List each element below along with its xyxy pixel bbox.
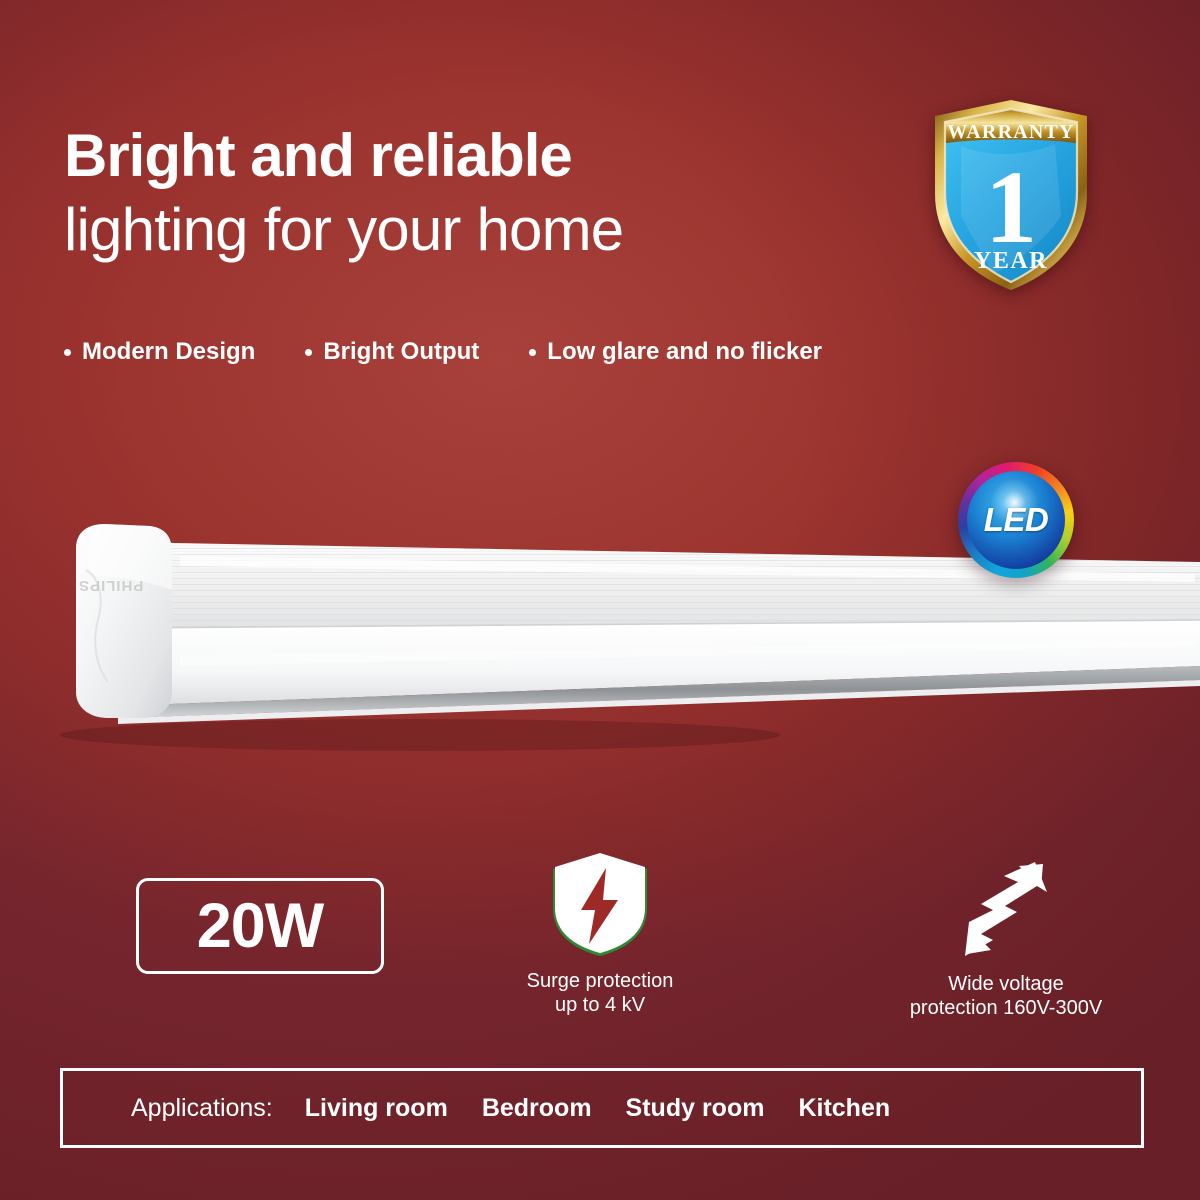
application-item-study-room: Study room	[626, 1094, 765, 1123]
wattage-badge: 20W	[136, 878, 384, 974]
headline-line-1: Bright and reliable	[64, 126, 944, 186]
product-banner: Bright and reliable lighting for your ho…	[0, 0, 1200, 1200]
warranty-unit-label: YEAR	[974, 248, 1048, 274]
feature-bullet-bright-output: Bright Output	[305, 338, 479, 366]
headline-line-2: lighting for your home	[64, 200, 944, 260]
shield-bolt-icon	[454, 852, 746, 958]
led-badge-label: LED	[958, 462, 1074, 578]
warranty-shield-icon: WARRANTY 1 YEAR	[931, 96, 1091, 292]
applications-label: Applications:	[131, 1094, 273, 1123]
headline: Bright and reliable lighting for your ho…	[64, 126, 944, 260]
spec-surge-caption: Surge protection up to 4 kV	[454, 969, 746, 1018]
warranty-shield-badge: WARRANTY 1 YEAR	[931, 96, 1091, 292]
spec-surge-protection: Surge protection up to 4 kV	[454, 852, 746, 1018]
feature-bullet-modern-design: Modern Design	[64, 338, 255, 366]
feature-bullet-label: Bright Output	[323, 338, 479, 366]
spec-voltage-caption: Wide voltage protection 160V-300V	[856, 972, 1156, 1021]
applications-bar: Applications: Living room Bedroom Study …	[60, 1068, 1144, 1148]
application-item-kitchen: Kitchen	[798, 1094, 890, 1123]
spec-wide-voltage: Wide voltage protection 160V-300V	[856, 860, 1156, 1021]
warranty-top-label: WARRANTY	[947, 121, 1074, 143]
feature-bullet-label: Low glare and no flicker	[547, 338, 822, 366]
feature-bullet-low-glare: Low glare and no flicker	[529, 338, 822, 366]
application-item-bedroom: Bedroom	[482, 1094, 592, 1123]
bullet-dot-icon	[529, 349, 536, 356]
bullet-dot-icon	[64, 349, 71, 356]
wattage-value: 20W	[197, 895, 324, 958]
feature-bullet-label: Modern Design	[82, 338, 255, 366]
double-arrow-bolt-icon	[856, 860, 1156, 958]
product-brand-label: PHILIPS	[78, 577, 143, 594]
bullet-dot-icon	[305, 349, 312, 356]
application-item-living-room: Living room	[305, 1094, 448, 1123]
led-badge: LED	[958, 462, 1074, 578]
feature-bullet-list: Modern Design Bright Output Low glare an…	[64, 338, 822, 366]
